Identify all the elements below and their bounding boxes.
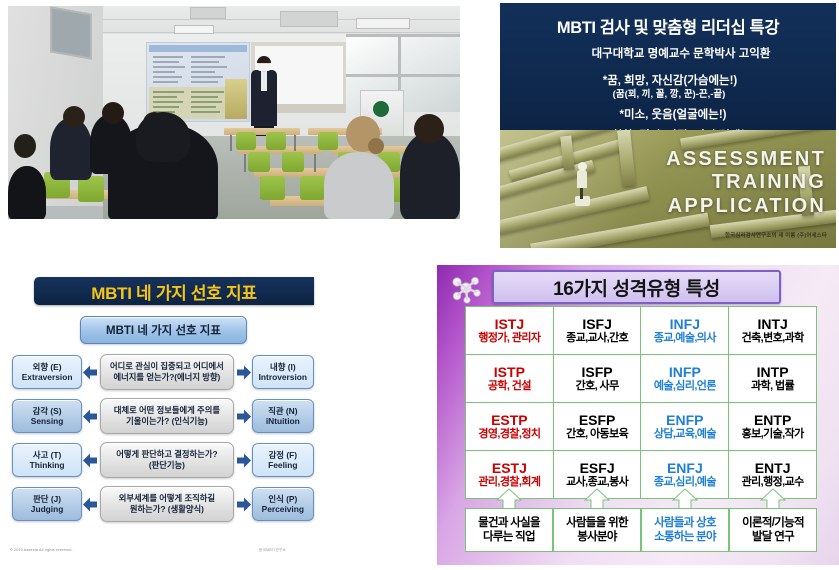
student bbox=[8, 166, 46, 219]
preference-row: 판단 (J) Judging 외부세계를 어떻게 조직하길 원하는가? (생활양… bbox=[4, 485, 314, 523]
type-cell-entp[interactable]: ENTP 홍보,기술,작가 bbox=[729, 403, 817, 451]
projector-mount bbox=[190, 7, 226, 19]
question-line-1: 어떻게 판단하고 결정하는가? bbox=[116, 449, 217, 460]
projector-screen bbox=[146, 42, 250, 122]
category-line-1: 물건과 사실을 bbox=[478, 516, 540, 530]
arrow-up-icon bbox=[495, 488, 523, 510]
label-en: Feeling bbox=[268, 460, 297, 470]
type-code: INFJ bbox=[641, 317, 728, 332]
type-cell-estp[interactable]: ESTP 경영,경찰,정치 bbox=[466, 403, 554, 451]
chair bbox=[266, 132, 286, 150]
type-cell-infp[interactable]: INFP 예술,심리,언론 bbox=[641, 355, 729, 403]
chair bbox=[236, 132, 256, 150]
preference-left-j: 판단 (J) Judging bbox=[12, 487, 82, 521]
label-kr: 직관 (N) bbox=[268, 406, 297, 416]
lecturer-name: 대구대학교 명예교수 문학박사 고익환 bbox=[500, 45, 836, 61]
navy-line-3: *미소, 웃음(얼굴에는!) bbox=[510, 108, 836, 123]
preference-row: 감각 (S) Sensing 대체로 어떤 정보들에게 주의를 기울이는가? (… bbox=[4, 397, 314, 435]
type-cell-isfj[interactable]: ISFJ 종교,교사,간호 bbox=[553, 307, 641, 355]
type-code: ISFP bbox=[554, 365, 641, 380]
type-cell-istp[interactable]: ISTP 공학, 건설 bbox=[466, 355, 554, 403]
preference-left-s: 감각 (S) Sensing bbox=[12, 399, 82, 433]
category-box-communication[interactable]: 사람들과 상호 소통하는 분야 bbox=[641, 508, 729, 552]
arrow-right-icon bbox=[236, 452, 252, 469]
type-code: ISTP bbox=[466, 365, 553, 380]
type-cell-intj[interactable]: INTJ 건축,변호,과학 bbox=[729, 307, 817, 355]
type-desc: 상담,교육,예술 bbox=[641, 428, 728, 440]
type-desc: 공학, 건설 bbox=[466, 380, 553, 392]
sixteen-types-slide: 16가지 성격유형 특성 ISTJ 행정가, 관리자 ISFJ 종교,교사,간호… bbox=[437, 265, 839, 565]
type-desc: 관리,행정,교수 bbox=[729, 476, 816, 488]
type-desc: 교사,종교,봉사 bbox=[554, 476, 641, 488]
type-desc: 종교,예술,의사 bbox=[641, 332, 728, 344]
arrow-right-icon bbox=[236, 364, 252, 381]
table-row: ISTP 공학, 건설 ISFP 간호, 사무 INFP 예술,심리,언론 IN… bbox=[466, 355, 817, 403]
arrow-left-icon bbox=[82, 364, 98, 381]
label-kr: 내향 (I) bbox=[270, 362, 296, 372]
question-line-2: 원하는가? (생활양식) bbox=[130, 504, 204, 515]
type-code: ENTJ bbox=[729, 461, 816, 476]
table-row: ISTJ 행정가, 관리자 ISFJ 종교,교사,간호 INFJ 종교,예술,의… bbox=[466, 307, 817, 355]
preference-row: 외향 (E) Extraversion 어디로 관심이 집중되고 어디에서 에너… bbox=[4, 353, 314, 391]
label-en: Judging bbox=[31, 504, 64, 514]
label-kr: 인식 (P) bbox=[268, 494, 297, 504]
category-box-service[interactable]: 사람들을 위한 봉사분야 bbox=[553, 508, 641, 552]
arrow-right-icon bbox=[236, 408, 252, 425]
preference-left-e: 외향 (E) Extraversion bbox=[12, 355, 82, 389]
type-cell-istj[interactable]: ISTJ 행정가, 관리자 bbox=[466, 307, 554, 355]
category-line-2: 소통하는 분야 bbox=[654, 530, 716, 544]
student-hood bbox=[136, 112, 190, 162]
category-line-1: 사람들을 위한 bbox=[566, 516, 628, 530]
chair bbox=[300, 176, 325, 200]
slide-footer-left: © 2019 Assesta All rights reserved. bbox=[10, 548, 73, 552]
category-line-2: 봉사분야 bbox=[577, 530, 617, 544]
navy-header: MBTI 검사 및 맞춤형 리더십 특강 대구대학교 명예교수 문학박사 고익환… bbox=[500, 3, 836, 130]
banner-line-1: ASSESSMENT bbox=[666, 148, 826, 171]
label-kr: 감정 (F) bbox=[269, 450, 297, 460]
question-line-1: 외부세계를 어떻게 조직하길 bbox=[119, 493, 215, 504]
preference-left-t: 사고 (T) Thinking bbox=[12, 443, 82, 477]
arrow-left-icon bbox=[82, 496, 98, 513]
presenter-hair bbox=[257, 56, 271, 63]
type-desc: 경영,경찰,정치 bbox=[466, 428, 553, 440]
type-cell-esfp[interactable]: ESFP 간호, 아동보육 bbox=[553, 403, 641, 451]
type-cell-isfp[interactable]: ISFP 간호, 사무 bbox=[553, 355, 641, 403]
student-hair-bun bbox=[368, 138, 384, 154]
label-kr: 사고 (T) bbox=[33, 450, 61, 460]
preference-right-n: 직관 (N) iNtuition bbox=[252, 399, 314, 433]
category-box-theory[interactable]: 이론적/기능적 발달 연구 bbox=[729, 508, 817, 552]
type-desc: 간호, 아동보육 bbox=[554, 428, 641, 440]
category-box-things[interactable]: 물건과 사실을 다루는 직업 bbox=[465, 508, 553, 552]
chair bbox=[248, 152, 270, 172]
navy-line-2: (꿈(꾀, 끼, 꼴, 깡, 꾼)-끈,-끝) bbox=[502, 89, 836, 101]
chair bbox=[282, 152, 304, 172]
type-desc: 관리,경찰,회계 bbox=[466, 476, 553, 488]
preference-right-p: 인식 (P) Perceiving bbox=[252, 487, 314, 521]
question-line-2: (판단기능) bbox=[149, 460, 185, 471]
table-row: ESTP 경영,경찰,정치 ESFP 간호, 아동보육 ENFP 상담,교육,예… bbox=[466, 403, 817, 451]
type-cell-intp[interactable]: INTP 과학, 법률 bbox=[729, 355, 817, 403]
arrow-up-icon bbox=[583, 488, 611, 510]
preference-question: 어디로 관심이 집중되고 어디에서 에너지를 얻는가?(에너지 방향) bbox=[100, 354, 233, 390]
presenter-shirt bbox=[261, 71, 267, 91]
assessment-wordmark: ASSESSMENT TRAINING APPLICATION bbox=[666, 148, 826, 218]
preference-question: 어떻게 판단하고 결정하는가? (판단기능) bbox=[100, 442, 233, 478]
sixteen-types-table: ISTJ 행정가, 관리자 ISFJ 종교,교사,간호 INFJ 종교,예술,의… bbox=[465, 306, 817, 499]
type-cell-infj[interactable]: INFJ 종교,예술,의사 bbox=[641, 307, 729, 355]
type-code: ESFP bbox=[554, 413, 641, 428]
question-line-1: 대체로 어떤 정보들에게 주의를 bbox=[114, 405, 220, 416]
question-line-2: 에너지를 얻는가?(에너지 방향) bbox=[113, 372, 220, 383]
ceiling-light bbox=[174, 25, 214, 34]
arrow-left-icon bbox=[82, 452, 98, 469]
category-row: 물건과 사실을 다루는 직업 사람들을 위한 봉사분야 사람들과 상호 소통하는… bbox=[465, 508, 817, 552]
ceiling-light-2 bbox=[356, 18, 410, 29]
label-kr: 외향 (E) bbox=[33, 362, 62, 372]
type-code: ESTP bbox=[466, 413, 553, 428]
chair bbox=[260, 176, 285, 200]
type-code: ESTJ bbox=[466, 461, 553, 476]
label-kr: 판단 (J) bbox=[33, 494, 61, 504]
type-code: ENTP bbox=[729, 413, 816, 428]
category-line-2: 다루는 직업 bbox=[483, 530, 535, 544]
slide-footer-right: 한국MBTI연구소 bbox=[259, 548, 286, 553]
student-head bbox=[414, 114, 444, 144]
type-desc: 종교,교사,간호 bbox=[554, 332, 641, 344]
type-code: ESFJ bbox=[554, 461, 641, 476]
label-kr: 감각 (S) bbox=[33, 406, 62, 416]
slide-subtitle-box: MBTI 네 가지 선호 지표 bbox=[80, 316, 247, 344]
type-code: INTJ bbox=[729, 317, 816, 332]
student-head bbox=[102, 102, 124, 124]
type-desc: 간호, 사무 bbox=[554, 380, 641, 392]
type-desc: 예술,심리,언론 bbox=[641, 380, 728, 392]
preference-row: 사고 (T) Thinking 어떻게 판단하고 결정하는가? (판단기능) 감… bbox=[4, 441, 314, 479]
type-code: ISTJ bbox=[466, 317, 553, 332]
preference-question: 대체로 어떤 정보들에게 주의를 기울이는가? (인식기능) bbox=[100, 398, 233, 434]
sixteen-types-title: 16가지 성격유형 특성 bbox=[492, 270, 781, 304]
lecture-title: MBTI 검사 및 맞춤형 리더십 특강 bbox=[500, 3, 836, 38]
label-en: Introversion bbox=[259, 372, 307, 382]
preference-right-f: 감정 (F) Feeling bbox=[252, 443, 314, 477]
arrow-up-icon bbox=[759, 488, 787, 510]
type-code: INFP bbox=[641, 365, 728, 380]
question-line-1: 어디로 관심이 집중되고 어디에서 bbox=[110, 361, 224, 372]
type-desc: 행정가, 관리자 bbox=[466, 332, 553, 344]
type-code: ENFP bbox=[641, 413, 728, 428]
arrow-left-icon bbox=[82, 408, 98, 425]
arrow-right-icon bbox=[236, 496, 252, 513]
label-en: Thinking bbox=[30, 460, 65, 470]
type-desc: 종교,심리,예술 bbox=[641, 476, 728, 488]
chair bbox=[318, 132, 338, 150]
mbti-four-preferences-slide: MBTI 네 가지 선호 지표 MBTI 네 가지 선호 지표 외향 (E) E… bbox=[4, 265, 314, 565]
student-head bbox=[14, 134, 36, 158]
maze-figure bbox=[575, 162, 589, 204]
navy-title-card: MBTI 검사 및 맞춤형 리더십 특강 대구대학교 명예교수 문학박사 고익환… bbox=[500, 3, 836, 251]
student bbox=[400, 132, 460, 219]
student-head bbox=[63, 106, 85, 128]
banner-line-3: APPLICATION bbox=[666, 195, 826, 218]
preference-question: 외부세계를 어떻게 조직하길 원하는가? (생활양식) bbox=[100, 486, 233, 522]
air-vent bbox=[280, 11, 338, 27]
podium-logo bbox=[373, 101, 389, 117]
navy-line-1: *꿈, 희망, 자신감(가슴에는!) bbox=[504, 74, 836, 89]
type-desc: 과학, 법률 bbox=[729, 380, 816, 392]
arrow-up-icon bbox=[671, 488, 699, 510]
label-en: Perceiving bbox=[262, 504, 304, 514]
student bbox=[324, 152, 394, 219]
type-desc: 홍보,기술,작가 bbox=[729, 428, 816, 440]
assessment-banner: ASSESSMENT TRAINING APPLICATION 한국심리검사연구… bbox=[500, 130, 836, 248]
label-en: Sensing bbox=[31, 416, 64, 426]
category-line-1: 이론적/기능적 bbox=[742, 516, 804, 530]
category-line-2: 발달 연구 bbox=[752, 530, 794, 544]
banner-line-2: TRAINING bbox=[666, 171, 826, 194]
label-en: iNtuition bbox=[266, 416, 300, 426]
slide-title-bar: MBTI 네 가지 선호 지표 bbox=[34, 277, 314, 305]
flower-star-icon bbox=[449, 273, 483, 305]
question-line-2: 기울이는가? (인식기능) bbox=[126, 416, 208, 427]
type-code: INTP bbox=[729, 365, 816, 380]
type-cell-enfp[interactable]: ENFP 상담,교육,예술 bbox=[641, 403, 729, 451]
arrow-row bbox=[465, 488, 817, 510]
presenter-mask bbox=[258, 64, 270, 71]
type-code: ENFJ bbox=[641, 461, 728, 476]
type-code: ISFJ bbox=[554, 317, 641, 332]
banner-footnote: 한국심리검사연구소의 새 이름 (주)어세스타 bbox=[725, 231, 827, 239]
label-en: Extraversion bbox=[22, 372, 73, 382]
type-desc: 건축,변호,과학 bbox=[729, 332, 816, 344]
category-line-1: 사람들과 상호 bbox=[654, 516, 716, 530]
wall-picture bbox=[50, 6, 92, 59]
classroom-lecture-photo bbox=[8, 6, 460, 219]
preference-right-i: 내향 (I) Introversion bbox=[252, 355, 314, 389]
